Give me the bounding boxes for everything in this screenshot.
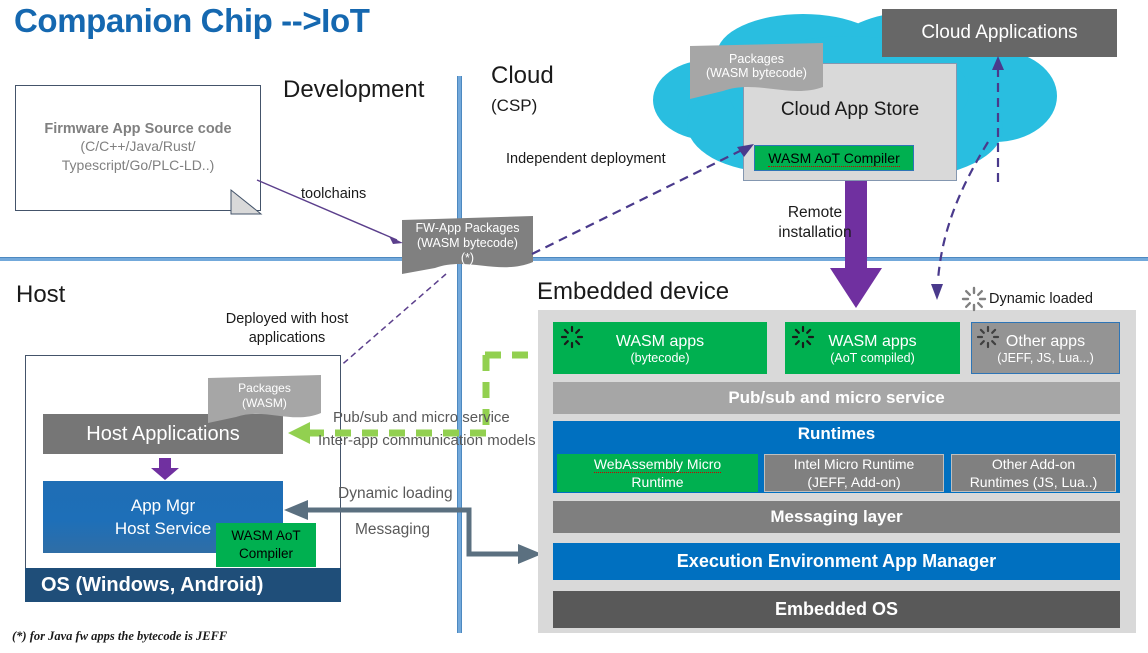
firmware-source-line1: (C/C++/Java/Rust/	[80, 137, 195, 156]
embedded-os: Embedded OS	[553, 591, 1120, 628]
label-dynamic-loaded: Dynamic loaded	[989, 291, 1093, 307]
embedded-app-0-name: WASM apps	[616, 332, 704, 351]
deployed-line1: Deployed with host	[226, 310, 349, 329]
cloud-aot-compiler-box: WASM AoT Compiler	[754, 145, 914, 171]
embedded-app-2-name: Other apps	[1006, 332, 1085, 351]
spinner-icon	[962, 287, 986, 311]
section-heading-host: Host	[16, 281, 65, 309]
dynamic-loaded-link-arrow	[920, 140, 990, 308]
remote-line1: Remote	[788, 203, 842, 223]
embedded-runtime-1-line1: Intel Micro Runtime	[794, 455, 915, 473]
firmware-source-heading: Firmware App Source code	[44, 121, 231, 137]
section-heading-development: Development	[283, 76, 424, 104]
inter-app-communication-arrows	[282, 335, 562, 445]
section-heading-embedded: Embedded device	[537, 278, 729, 306]
embedded-pubsub-band: Pub/sub and micro service	[553, 382, 1120, 414]
embedded-app-0-sub: (bytecode)	[630, 351, 689, 365]
firmware-source-box: Firmware App Source code (C/C++/Java/Rus…	[15, 85, 261, 211]
spinner-icon	[561, 326, 583, 348]
spinner-icon	[792, 326, 814, 348]
label-remote-installation: Remote installation	[760, 203, 870, 243]
embedded-app-1-name: WASM apps	[828, 332, 916, 351]
remote-line2: installation	[778, 223, 851, 243]
host-deploy-arrow	[150, 458, 180, 480]
embedded-runtime-1-line2: (JEFF, Add-on)	[807, 473, 900, 491]
app-mgr-line1: App Mgr	[131, 494, 195, 517]
cloud-aot-compiler-label: WASM AoT Compiler	[768, 150, 899, 167]
page-title: Companion Chip -->IoT	[14, 2, 369, 40]
fw-packages-line2: (WASM bytecode)	[417, 236, 518, 251]
embedded-runtime-2: Other Add-on Runtimes (JS, Lua..)	[951, 454, 1116, 492]
cloud-apps-uplink-arrow	[988, 54, 1008, 184]
cloud-packages-text: Packages (WASM bytecode)	[690, 46, 823, 86]
fw-packages-line3: (*)	[461, 251, 474, 266]
spinner-icon	[977, 326, 999, 348]
section-subheading-csp: (CSP)	[491, 96, 537, 116]
embedded-runtime-0-line1: WebAssembly Micro	[594, 456, 721, 473]
label-pubsub-models-line1: Pub/sub and micro service	[333, 409, 510, 426]
label-pubsub-models-line2: Inter-app communication models	[318, 432, 536, 449]
embedded-exec-env: Execution Environment App Manager	[553, 543, 1120, 580]
cloud-packages-line1: Packages	[729, 52, 784, 66]
firmware-source-line2: Typescript/Go/PLC-LD..)	[62, 156, 215, 175]
independent-deployment-arrow	[530, 140, 760, 260]
label-dynamic-loading: Dynamic loading	[338, 485, 453, 503]
embedded-runtimes-title: Runtimes	[553, 421, 1120, 447]
embedded-messaging-layer: Messaging layer	[553, 501, 1120, 533]
section-heading-cloud: Cloud	[491, 62, 554, 90]
host-packages-line2: (WASM)	[242, 396, 287, 411]
embedded-app-0: WASM apps (bytecode)	[553, 322, 767, 374]
embedded-app-2-sub: (JEFF, JS, Lua...)	[997, 351, 1094, 365]
cloud-packages-line2: (WASM bytecode)	[706, 66, 807, 80]
embedded-app-1-sub: (AoT compiled)	[830, 351, 915, 365]
cloud-applications-box: Cloud Applications	[882, 9, 1117, 57]
footnote: (*) for Java fw apps the bytecode is JEF…	[12, 629, 227, 644]
label-messaging: Messaging	[355, 521, 430, 539]
embedded-runtime-1: Intel Micro Runtime (JEFF, Add-on)	[764, 454, 944, 492]
app-mgr-line2: Host Service	[115, 517, 211, 540]
embedded-runtime-2-line1: Other Add-on	[992, 455, 1075, 473]
embedded-runtime-0-line2: Runtime	[631, 473, 683, 491]
host-os-box: OS (Windows, Android)	[25, 568, 341, 602]
fw-packages-line1: FW-App Packages	[416, 221, 520, 236]
toolchain-connector-arrow	[255, 178, 415, 248]
embedded-runtime-0: WebAssembly Micro Runtime	[557, 454, 758, 492]
fw-app-packages-text: FW-App Packages (WASM bytecode) (*)	[402, 221, 533, 265]
embedded-runtime-2-line2: Runtimes (JS, Lua..)	[970, 473, 1098, 491]
